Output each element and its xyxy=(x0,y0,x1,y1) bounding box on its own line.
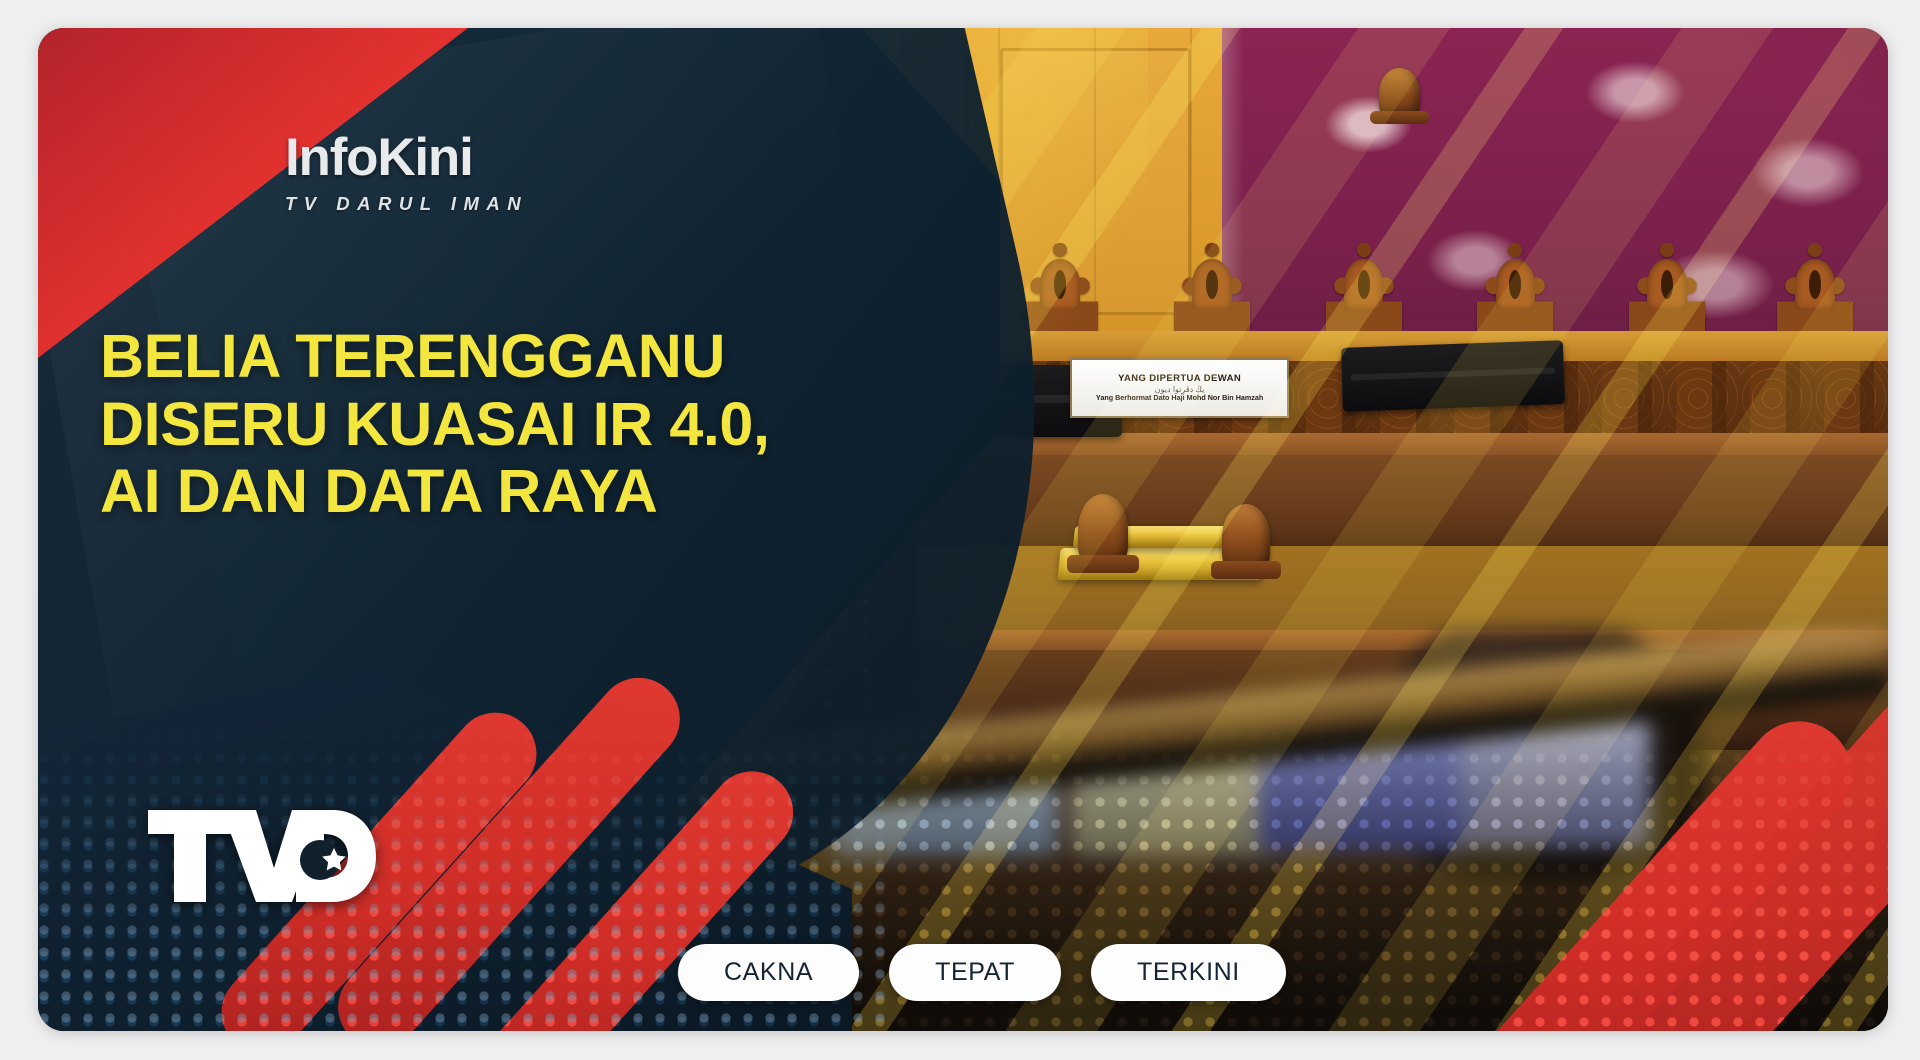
pill-terkini[interactable]: TERKINI xyxy=(1091,944,1286,1001)
headline-line-1: BELIA TERENGGANU xyxy=(100,323,890,391)
crescent-star-icon xyxy=(300,840,346,880)
headline: BELIA TERENGGANU DISERU KUASAI IR 4.0, A… xyxy=(100,323,890,526)
brand-tagline: TV DARUL IMAN xyxy=(285,193,528,215)
news-card: YANG DIPERTUA DEWAN يڭ دڤرتوا ديون Yang … xyxy=(38,28,1888,1031)
tagline-pills: CAKNA TEPAT TERKINI xyxy=(678,944,1286,1001)
pill-tepat[interactable]: TEPAT xyxy=(889,944,1061,1001)
tvdi-station-logo xyxy=(146,804,378,913)
brand-name: InfoKini xyxy=(285,131,528,184)
infokini-logo: InfoKini TV DARUL IMAN xyxy=(285,131,528,215)
poster-canvas: YANG DIPERTUA DEWAN يڭ دڤرتوا ديون Yang … xyxy=(0,0,1920,1060)
headline-line-2: DISERU KUASAI IR 4.0, xyxy=(100,391,890,459)
headline-line-3: AI DAN DATA RAYA xyxy=(100,458,890,526)
pill-cakna[interactable]: CAKNA xyxy=(678,944,859,1001)
